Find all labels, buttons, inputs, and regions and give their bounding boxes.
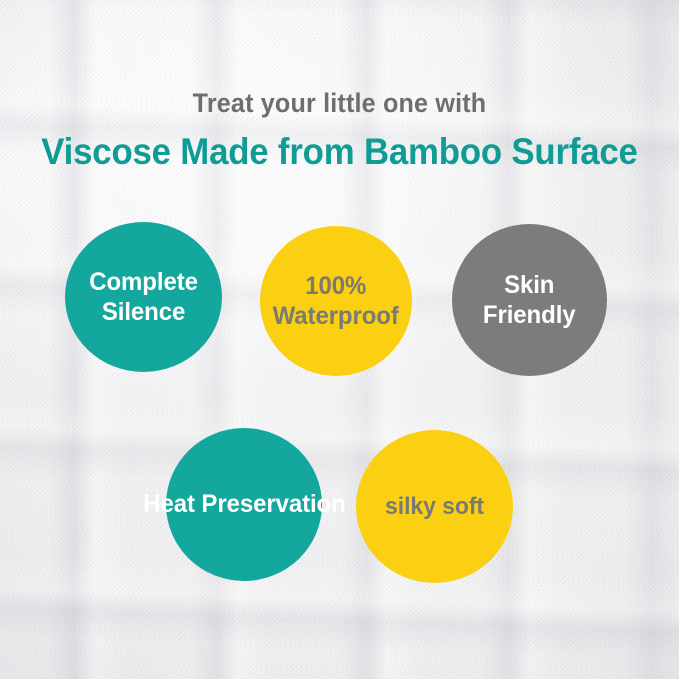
feature-badge-heat-preservation: Heat Preservation xyxy=(166,428,322,581)
feature-label: 100% Waterproof xyxy=(273,271,399,332)
feature-badge-waterproof: 100% Waterproof xyxy=(260,226,412,376)
feature-label: Complete Silence xyxy=(89,267,198,328)
feature-badge-complete-silence: Complete Silence xyxy=(65,222,222,372)
feature-badge-skin-friendly: Skin Friendly xyxy=(452,224,607,376)
heading-block: Treat your little one with Viscose Made … xyxy=(0,88,679,172)
feature-label: silky soft xyxy=(385,492,484,521)
page-title: Viscose Made from Bamboo Surface xyxy=(20,131,658,172)
subtitle: Treat your little one with xyxy=(24,88,655,119)
feature-label: Heat Preservation xyxy=(143,489,345,520)
product-feature-infographic: Treat your little one with Viscose Made … xyxy=(0,0,679,679)
feature-label: Skin Friendly xyxy=(483,270,576,331)
feature-badge-silky-soft: silky soft xyxy=(356,430,513,583)
